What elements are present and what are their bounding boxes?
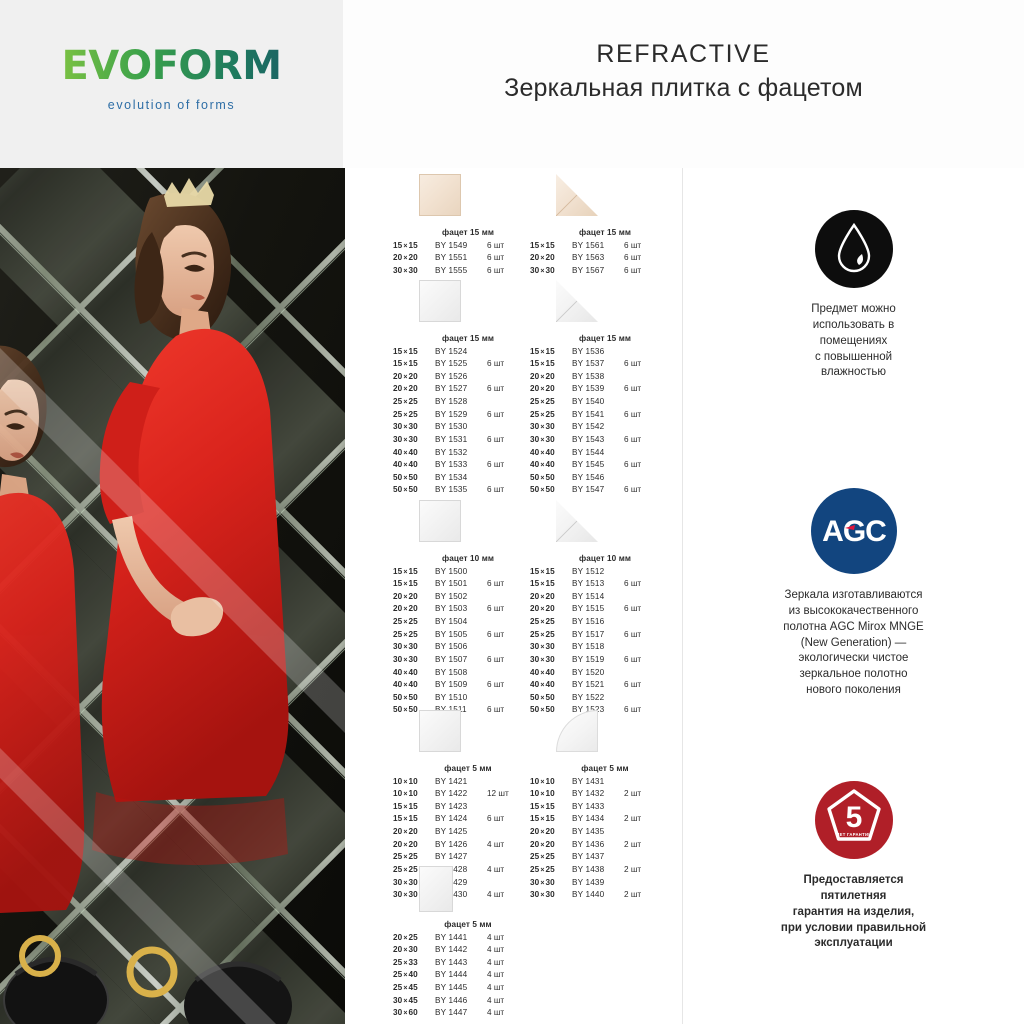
table-row[interactable]: 25×25BY 1504 <box>393 616 543 629</box>
table-row[interactable]: 20×30BY 14424 шт <box>393 944 543 957</box>
pack-quantity <box>624 371 680 384</box>
table-row[interactable]: 50×50BY 1546 <box>530 472 680 485</box>
feature-line: влажностью <box>683 365 1024 381</box>
triangle-tile-icon <box>556 500 598 542</box>
tile-size: 40×40 <box>530 679 572 692</box>
product-code: BY 1530 <box>435 421 487 434</box>
product-code: BY 1534 <box>435 472 487 485</box>
table-row[interactable]: 30×30BY 1530 <box>393 421 543 434</box>
table-row[interactable]: 50×50BY 1510 <box>393 692 543 705</box>
product-code: BY 1443 <box>435 957 487 970</box>
table-row[interactable]: 25×25BY 15176 шт <box>530 629 680 642</box>
product-code: BY 1441 <box>435 932 487 945</box>
pack-quantity <box>624 447 680 460</box>
pack-quantity <box>624 826 680 839</box>
tile-size: 30×30 <box>393 641 435 654</box>
table-row[interactable]: 20×20BY 14362 шт <box>530 839 680 852</box>
table-row[interactable]: 25×45BY 14454 шт <box>393 982 543 995</box>
table-row[interactable]: 15×15BY 14342 шт <box>530 813 680 826</box>
table-row[interactable]: 30×30BY 15076 шт <box>393 654 543 667</box>
square-bronze-tile-icon <box>419 174 461 216</box>
table-row[interactable]: 25×25BY 15056 шт <box>393 629 543 642</box>
feature-line: гарантия на изделия, <box>683 905 1024 921</box>
product-group: фацет 15 мм15×15BY 15616 шт20×20BY 15636… <box>530 170 680 277</box>
product-code: BY 1524 <box>435 346 487 359</box>
table-row[interactable]: 15×15BY 15136 шт <box>530 578 680 591</box>
table-row[interactable]: 20×20BY 15396 шт <box>530 383 680 396</box>
pack-quantity <box>624 566 680 579</box>
table-row[interactable]: 15×15BY 15256 шт <box>393 358 543 371</box>
product-code: BY 1542 <box>572 421 624 434</box>
table-row[interactable]: 40×40BY 1544 <box>530 447 680 460</box>
tile-size: 10×10 <box>530 776 572 789</box>
tile-size: 15×15 <box>530 801 572 814</box>
facet-label: фацет 5 мм <box>393 920 543 929</box>
table-row[interactable]: 30×30BY 15436 шт <box>530 434 680 447</box>
feature-line: Зеркала изготавливаются <box>683 588 1024 604</box>
product-code: BY 1504 <box>435 616 487 629</box>
table-row[interactable]: 20×20BY 1526 <box>393 371 543 384</box>
table-row[interactable]: 15×15BY 1500 <box>393 566 543 579</box>
tile-size: 20×20 <box>393 826 435 839</box>
product-code: BY 1440 <box>572 889 624 902</box>
table-row[interactable]: 40×40BY 1520 <box>530 667 680 680</box>
facet-label: фацет 15 мм <box>530 334 680 343</box>
pack-quantity: 4 шт <box>487 969 543 982</box>
product-code: BY 1436 <box>572 839 624 852</box>
table-row[interactable]: 25×25BY 15296 шт <box>393 409 543 422</box>
page-header: EVOFORM evolution of forms REFRACTIVE Зе… <box>0 0 1024 168</box>
table-row[interactable]: 25×25BY 15416 шт <box>530 409 680 422</box>
feature-line: Предмет можно <box>683 302 1024 318</box>
table-row[interactable]: 40×40BY 15456 шт <box>530 459 680 472</box>
svg-text:5: 5 <box>845 801 862 834</box>
table-row[interactable]: 25×25BY 1516 <box>530 616 680 629</box>
tile-size: 30×45 <box>393 995 435 1008</box>
table-row[interactable]: 40×40BY 15216 шт <box>530 679 680 692</box>
product-code: BY 1431 <box>572 776 624 789</box>
pack-quantity: 2 шт <box>624 839 680 852</box>
tile-size: 25×25 <box>530 396 572 409</box>
pack-quantity: 4 шт <box>487 1007 543 1020</box>
product-code: BY 1439 <box>572 877 624 890</box>
product-code: BY 1506 <box>435 641 487 654</box>
pack-quantity: 2 шт <box>624 813 680 826</box>
tile-size: 20×30 <box>393 944 435 957</box>
product-table: 15×15BY 153615×15BY 15376 шт20×20BY 1538… <box>530 346 680 498</box>
tile-size: 40×40 <box>393 679 435 692</box>
tile-size: 20×20 <box>530 383 572 396</box>
product-code: BY 1537 <box>572 358 624 371</box>
pack-quantity <box>624 667 680 680</box>
tile-size: 10×10 <box>393 776 435 789</box>
tile-size: 25×25 <box>530 409 572 422</box>
tile-size: 50×50 <box>393 472 435 485</box>
product-code: BY 1509 <box>435 679 487 692</box>
product-swatch-area <box>530 276 680 334</box>
feature-line: (New Generation) — <box>683 636 1024 652</box>
tile-size: 30×30 <box>530 654 572 667</box>
feature-line: использовать в <box>683 318 1024 334</box>
product-code: BY 1518 <box>572 641 624 654</box>
product-table: 15×15BY 150015×15BY 15016 шт20×20BY 1502… <box>393 566 543 718</box>
product-swatch-area <box>393 170 543 228</box>
tile-size: 20×20 <box>393 839 435 852</box>
tile-size: 25×45 <box>393 982 435 995</box>
tile-size: 30×30 <box>393 421 435 434</box>
product-table: 15×15BY 15496 шт20×20BY 15516 шт30×30BY … <box>393 240 543 278</box>
tile-size: 15×15 <box>530 240 572 253</box>
tile-size: 25×25 <box>393 409 435 422</box>
table-row[interactable]: 15×15BY 1423 <box>393 801 543 814</box>
tile-size: 40×40 <box>393 667 435 680</box>
tile-size: 30×30 <box>530 434 572 447</box>
agc-logo-icon: AGC <box>811 488 897 574</box>
product-code: BY 1538 <box>572 371 624 384</box>
product-code: BY 1433 <box>572 801 624 814</box>
tile-size: 20×20 <box>393 371 435 384</box>
facet-label: фацет 10 мм <box>393 554 543 563</box>
product-code: BY 1540 <box>572 396 624 409</box>
product-code: BY 1522 <box>572 692 624 705</box>
tile-size: 15×15 <box>530 358 572 371</box>
tile-size: 40×40 <box>530 667 572 680</box>
pack-quantity: 6 шт <box>624 603 680 616</box>
product-code: BY 1425 <box>435 826 487 839</box>
table-row[interactable]: 10×10BY 14322 шт <box>530 788 680 801</box>
product-code: BY 1501 <box>435 578 487 591</box>
pack-quantity <box>624 616 680 629</box>
table-row[interactable]: 25×40BY 14444 шт <box>393 969 543 982</box>
table-row[interactable]: 15×15BY 15616 шт <box>530 240 680 253</box>
feature-line: при условии правильной <box>683 921 1024 937</box>
square-tile-icon <box>419 280 461 322</box>
tile-size: 25×25 <box>393 616 435 629</box>
table-row[interactable]: 15×15BY 1433 <box>530 801 680 814</box>
facet-label: фацет 10 мм <box>530 554 680 563</box>
pack-quantity: 6 шт <box>624 629 680 642</box>
table-row[interactable]: 30×60BY 14474 шт <box>393 1007 543 1020</box>
table-row[interactable]: 25×25BY 14382 шт <box>530 864 680 877</box>
table-row[interactable]: 20×20BY 1435 <box>530 826 680 839</box>
table-row[interactable]: 40×40BY 1508 <box>393 667 543 680</box>
product-code: BY 1528 <box>435 396 487 409</box>
product-swatch-area <box>393 496 543 554</box>
tile-size: 40×40 <box>393 447 435 460</box>
pack-quantity: 4 шт <box>487 944 543 957</box>
triangle-tile-icon <box>556 280 598 322</box>
product-code: BY 1545 <box>572 459 624 472</box>
feature-line: пятилетняя <box>683 889 1024 905</box>
tile-size: 15×15 <box>393 346 435 359</box>
product-code: BY 1421 <box>435 776 487 789</box>
table-row[interactable]: 30×30BY 1506 <box>393 641 543 654</box>
pack-quantity: 4 шт <box>487 995 543 1008</box>
pack-quantity <box>624 851 680 864</box>
table-row[interactable]: 40×40BY 15096 шт <box>393 679 543 692</box>
product-group: фацет 10 мм15×15BY 150015×15BY 15016 шт2… <box>393 496 543 717</box>
product-group: фацет 5 мм10×10BY 143110×10BY 14322 шт15… <box>530 706 680 902</box>
product-code: BY 1533 <box>435 459 487 472</box>
pack-quantity: 6 шт <box>624 654 680 667</box>
table-row[interactable]: 20×20BY 14264 шт <box>393 839 543 852</box>
table-row[interactable]: 20×20BY 1514 <box>530 591 680 604</box>
table-row[interactable]: 30×30BY 1542 <box>530 421 680 434</box>
table-row[interactable]: 30×30BY 1439 <box>530 877 680 890</box>
tile-size: 10×10 <box>530 788 572 801</box>
product-code: BY 1424 <box>435 813 487 826</box>
tile-size: 25×40 <box>393 969 435 982</box>
pack-quantity: 6 шт <box>624 383 680 396</box>
feature-line: экологически чистое <box>683 651 1024 667</box>
tile-size: 20×25 <box>393 932 435 945</box>
tile-size: 15×15 <box>530 346 572 359</box>
tile-size: 25×25 <box>393 629 435 642</box>
product-code: BY 1525 <box>435 358 487 371</box>
table-row[interactable]: 20×20BY 15636 шт <box>530 252 680 265</box>
tile-size: 20×20 <box>530 826 572 839</box>
product-code: BY 1516 <box>572 616 624 629</box>
table-row[interactable]: 20×20BY 1425 <box>393 826 543 839</box>
tile-size: 40×40 <box>530 459 572 472</box>
table-row[interactable]: 30×30BY 14402 шт <box>530 889 680 902</box>
table-row[interactable]: 50×50BY 1534 <box>393 472 543 485</box>
product-table: 15×15BY 151215×15BY 15136 шт20×20BY 1514… <box>530 566 680 718</box>
product-code: BY 1438 <box>572 864 624 877</box>
tile-size: 40×40 <box>393 459 435 472</box>
product-table: 15×15BY 152415×15BY 15256 шт20×20BY 1526… <box>393 346 543 498</box>
product-code: BY 1426 <box>435 839 487 852</box>
tile-size: 30×60 <box>393 1007 435 1020</box>
pack-quantity <box>624 421 680 434</box>
feature-line: из высококачественного <box>683 604 1024 620</box>
product-code: BY 1520 <box>572 667 624 680</box>
pack-quantity <box>624 692 680 705</box>
table-row[interactable]: 20×20BY 15276 шт <box>393 383 543 396</box>
pack-quantity: 6 шт <box>624 240 680 253</box>
table-row[interactable]: 25×25BY 1528 <box>393 396 543 409</box>
product-code: BY 1447 <box>435 1007 487 1020</box>
facet-label: фацет 15 мм <box>393 228 543 237</box>
tile-size: 15×15 <box>393 566 435 579</box>
tile-size: 15×15 <box>530 566 572 579</box>
feature-line: помещениях <box>683 334 1024 350</box>
hero-photo-illustration <box>0 168 345 1024</box>
product-swatch-area <box>530 706 680 764</box>
pack-quantity <box>624 472 680 485</box>
feature-agc-text: Зеркала изготавливаются из высококачеств… <box>683 588 1024 699</box>
table-row[interactable]: 20×20BY 1502 <box>393 591 543 604</box>
product-code: BY 1502 <box>435 591 487 604</box>
pack-quantity <box>624 776 680 789</box>
pack-quantity: 6 шт <box>624 358 680 371</box>
feature-warranty: 5 ЛЕТ ГАРАНТИИ Предоставляется пятилетня… <box>683 781 1024 952</box>
table-row[interactable]: 50×50BY 1522 <box>530 692 680 705</box>
pack-quantity <box>624 346 680 359</box>
pack-quantity: 6 шт <box>624 459 680 472</box>
product-code: BY 1531 <box>435 434 487 447</box>
tile-size: 20×20 <box>530 839 572 852</box>
table-row[interactable]: 15×15BY 15016 шт <box>393 578 543 591</box>
table-row[interactable]: 15×15BY 1512 <box>530 566 680 579</box>
table-row[interactable]: 10×10BY 142212 шт <box>393 788 543 801</box>
table-row[interactable]: 15×15BY 14246 шт <box>393 813 543 826</box>
feature-moisture-text: Предмет можно использовать в помещениях … <box>683 302 1024 381</box>
product-code: BY 1434 <box>572 813 624 826</box>
pack-quantity <box>624 591 680 604</box>
table-row[interactable]: 40×40BY 1532 <box>393 447 543 460</box>
tile-size: 15×15 <box>393 801 435 814</box>
tile-size: 30×30 <box>530 641 572 654</box>
product-code: BY 1546 <box>572 472 624 485</box>
brand-tagline: evolution of forms <box>0 98 343 112</box>
tile-size: 25×33 <box>393 957 435 970</box>
product-code: BY 1503 <box>435 603 487 616</box>
feature-agc: AGC Зеркала изготавливаются из высококач… <box>683 488 1024 699</box>
product-group: фацет 15 мм15×15BY 15496 шт20×20BY 15516… <box>393 170 543 277</box>
table-row[interactable]: 30×30BY 1518 <box>530 641 680 654</box>
pack-quantity: 2 шт <box>624 889 680 902</box>
feature-line: зеркальное полотно <box>683 667 1024 683</box>
table-row[interactable]: 20×20BY 15036 шт <box>393 603 543 616</box>
pack-quantity: 4 шт <box>487 932 543 945</box>
square-tile-icon <box>419 710 461 752</box>
product-table: 20×25BY 14414 шт20×30BY 14424 шт25×33BY … <box>393 932 543 1020</box>
product-code: BY 1446 <box>435 995 487 1008</box>
pack-quantity: 6 шт <box>624 679 680 692</box>
product-code: BY 1423 <box>435 801 487 814</box>
product-code: BY 1507 <box>435 654 487 667</box>
pack-quantity: 4 шт <box>487 982 543 995</box>
pack-quantity: 6 шт <box>624 409 680 422</box>
page-subtitle: Зеркальная плитка с фацетом <box>343 74 1024 103</box>
tile-size: 30×30 <box>393 434 435 447</box>
pack-quantity: 6 шт <box>624 252 680 265</box>
tile-size: 20×20 <box>530 591 572 604</box>
product-code: BY 1515 <box>572 603 624 616</box>
feature-moisture: Предмет можно использовать в помещениях … <box>683 210 1024 381</box>
svg-text:ЛЕТ ГАРАНТИИ: ЛЕТ ГАРАНТИИ <box>836 832 871 837</box>
table-row[interactable]: 25×25BY 1540 <box>530 396 680 409</box>
tile-size: 15×15 <box>393 813 435 826</box>
feature-line: нового поколения <box>683 683 1024 699</box>
product-code: BY 1541 <box>572 409 624 422</box>
product-table: 10×10BY 143110×10BY 14322 шт15×15BY 1433… <box>530 776 680 902</box>
product-swatch-area <box>393 862 543 920</box>
pack-quantity <box>624 396 680 409</box>
table-row[interactable]: 15×15BY 1524 <box>393 346 543 359</box>
feature-line: полотна AGC Mirox MNGE <box>683 620 1024 636</box>
product-code: BY 1513 <box>572 578 624 591</box>
product-catalog: фацет 15 мм15×15BY 15496 шт20×20BY 15516… <box>345 168 682 1024</box>
table-row[interactable]: 25×25BY 1437 <box>530 851 680 864</box>
product-table: 15×15BY 15616 шт20×20BY 15636 шт30×30BY … <box>530 240 680 278</box>
table-row[interactable]: 10×10BY 1431 <box>530 776 680 789</box>
tile-size: 25×25 <box>530 616 572 629</box>
table-row[interactable]: 25×33BY 14434 шт <box>393 957 543 970</box>
table-row[interactable]: 20×25BY 14414 шт <box>393 932 543 945</box>
table-row[interactable]: 10×10BY 1421 <box>393 776 543 789</box>
product-code: BY 1512 <box>572 566 624 579</box>
square-tile-icon <box>419 500 461 542</box>
rect-tile-icon <box>419 866 453 912</box>
pack-quantity: 4 шт <box>487 957 543 970</box>
table-row[interactable]: 30×30BY 15316 шт <box>393 434 543 447</box>
product-code: BY 1519 <box>572 654 624 667</box>
tile-size: 20×20 <box>393 591 435 604</box>
product-group: фацет 5 мм20×25BY 14414 шт20×30BY 14424 … <box>393 862 543 1020</box>
tile-size: 10×10 <box>393 788 435 801</box>
product-code: BY 1549 <box>435 240 487 253</box>
table-row[interactable]: 20×20BY 15156 шт <box>530 603 680 616</box>
table-row[interactable]: 15×15BY 15376 шт <box>530 358 680 371</box>
product-code: BY 1505 <box>435 629 487 642</box>
product-swatch-area <box>393 276 543 334</box>
feature-line: эксплуатации <box>683 936 1024 952</box>
pack-quantity: 6 шт <box>624 578 680 591</box>
product-swatch-area <box>393 706 543 764</box>
tile-size: 30×30 <box>530 421 572 434</box>
table-row[interactable]: 20×20BY 1538 <box>530 371 680 384</box>
product-code: BY 1500 <box>435 566 487 579</box>
table-row[interactable]: 30×30BY 15196 шт <box>530 654 680 667</box>
table-row[interactable]: 20×20BY 15516 шт <box>393 252 543 265</box>
tile-size: 20×20 <box>393 383 435 396</box>
product-code: BY 1444 <box>435 969 487 982</box>
table-row[interactable]: 40×40BY 15336 шт <box>393 459 543 472</box>
facet-label: фацет 5 мм <box>393 764 543 773</box>
product-code: BY 1432 <box>572 788 624 801</box>
product-code: BY 1510 <box>435 692 487 705</box>
product-code: BY 1508 <box>435 667 487 680</box>
product-code: BY 1551 <box>435 252 487 265</box>
product-code: BY 1527 <box>435 383 487 396</box>
logo-block: EVOFORM evolution of forms <box>0 0 343 168</box>
catalog-page: EVOFORM evolution of forms REFRACTIVE Зе… <box>0 0 1024 1024</box>
product-code: BY 1544 <box>572 447 624 460</box>
product-code: BY 1532 <box>435 447 487 460</box>
table-row[interactable]: 30×45BY 14464 шт <box>393 995 543 1008</box>
tile-size: 20×20 <box>393 252 435 265</box>
feature-column: Предмет можно использовать в помещениях … <box>683 168 1024 1024</box>
pack-quantity: 2 шт <box>624 864 680 877</box>
tile-size: 25×25 <box>530 629 572 642</box>
pack-quantity: 2 шт <box>624 788 680 801</box>
product-code: BY 1529 <box>435 409 487 422</box>
product-group: фацет 15 мм15×15BY 153615×15BY 15376 шт2… <box>530 276 680 497</box>
tile-size: 30×30 <box>393 654 435 667</box>
product-code: BY 1442 <box>435 944 487 957</box>
tile-size: 25×25 <box>393 396 435 409</box>
product-code: BY 1435 <box>572 826 624 839</box>
product-code: BY 1445 <box>435 982 487 995</box>
tile-size: 20×20 <box>530 252 572 265</box>
page-title: REFRACTIVE <box>343 40 1024 69</box>
product-code: BY 1437 <box>572 851 624 864</box>
product-code: BY 1543 <box>572 434 624 447</box>
tile-size: 15×15 <box>530 578 572 591</box>
tile-size: 20×20 <box>530 603 572 616</box>
product-group: фацет 10 мм15×15BY 151215×15BY 15136 шт2… <box>530 496 680 717</box>
tile-size: 50×50 <box>530 692 572 705</box>
pack-quantity <box>624 877 680 890</box>
table-row[interactable]: 15×15BY 15496 шт <box>393 240 543 253</box>
water-drop-icon <box>815 210 893 288</box>
table-row[interactable]: 15×15BY 1536 <box>530 346 680 359</box>
product-code: BY 1536 <box>572 346 624 359</box>
feature-warranty-text: Предоставляется пятилетняя гарантия на и… <box>683 873 1024 952</box>
product-swatch-area <box>530 496 680 554</box>
